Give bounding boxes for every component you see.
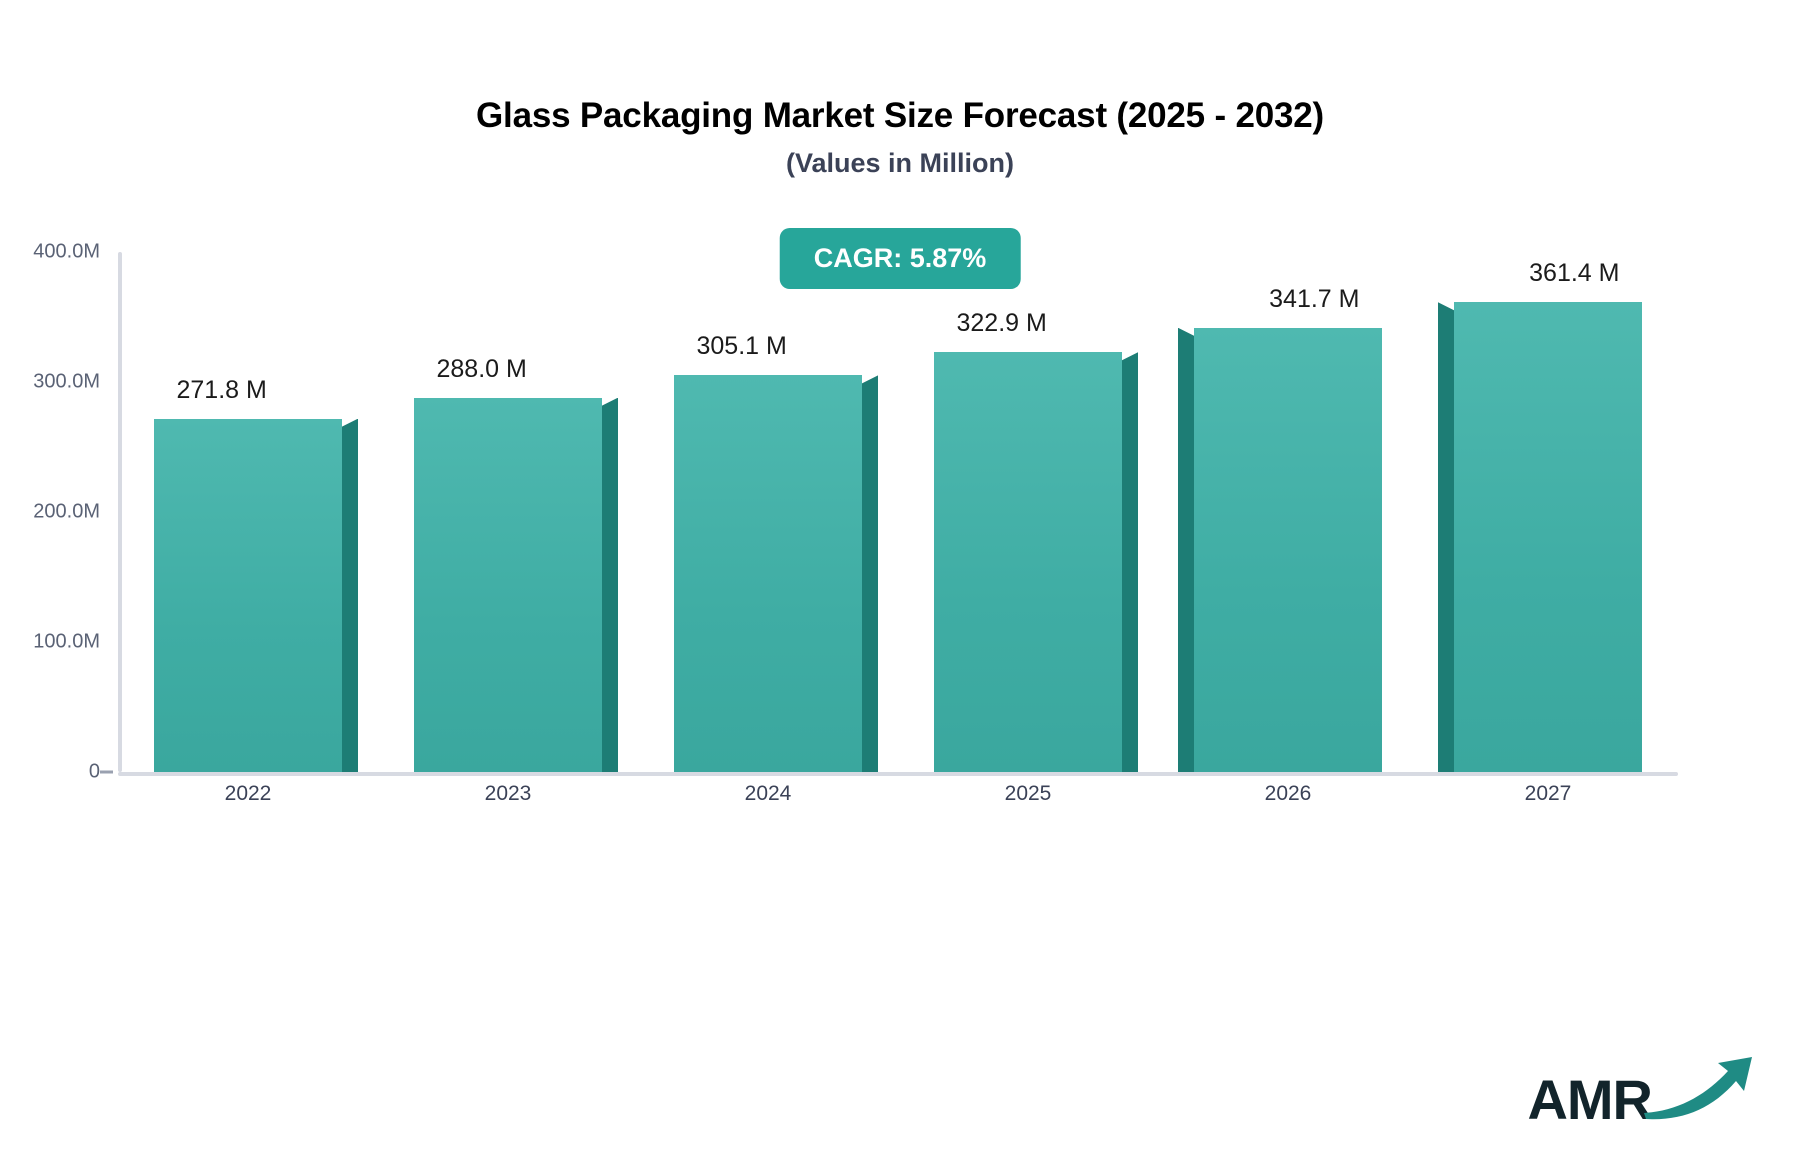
x-axis-label-2025: 2025 bbox=[898, 782, 1158, 806]
bar-value-label: 361.4 M bbox=[1529, 259, 1619, 288]
bar-value-label: 288.0 M bbox=[437, 355, 527, 384]
growth-arrow-icon bbox=[1640, 1051, 1758, 1126]
bar-2027[interactable] bbox=[1454, 302, 1642, 772]
bar-2025[interactable] bbox=[934, 352, 1122, 772]
y-axis-tick-label: 100.0M bbox=[33, 631, 100, 654]
bar-2024[interactable] bbox=[674, 375, 862, 772]
logo-text: AMR bbox=[1527, 1072, 1652, 1128]
bar-series: 271.8 M288.0 M305.1 M322.9 M341.7 M361.4… bbox=[118, 252, 1678, 772]
x-axis-line bbox=[118, 772, 1678, 776]
x-axis-label-2023: 2023 bbox=[378, 782, 638, 806]
bar-slot: 305.1 M bbox=[638, 252, 898, 772]
chart-page: Glass Packaging Market Size Forecast (20… bbox=[0, 0, 1800, 1156]
bar-side-shadow bbox=[602, 398, 618, 772]
y-axis-tick-label: 400.0M bbox=[33, 241, 100, 264]
y-axis-tick-label: 0 bbox=[89, 761, 100, 784]
x-axis-labels: 202220232024202520262027 bbox=[118, 782, 1678, 806]
bar-slot: 361.4 M bbox=[1418, 252, 1678, 772]
x-axis-label-2024: 2024 bbox=[638, 782, 898, 806]
bar-value-label: 341.7 M bbox=[1269, 285, 1359, 314]
bar-2023[interactable] bbox=[414, 398, 602, 772]
bar-2026[interactable] bbox=[1194, 328, 1382, 772]
y-axis-tick-label: 300.0M bbox=[33, 371, 100, 394]
bar-side-shadow bbox=[342, 419, 358, 772]
page-title: Glass Packaging Market Size Forecast (20… bbox=[0, 96, 1800, 136]
plot-area: 0100.0M200.0M300.0M400.0M 271.8 M288.0 M… bbox=[118, 252, 1678, 772]
y-axis-tick-label: 200.0M bbox=[33, 501, 100, 524]
bar-value-label: 322.9 M bbox=[957, 309, 1047, 338]
bar-side-shadow bbox=[1438, 302, 1454, 772]
bar-slot: 341.7 M bbox=[1158, 252, 1418, 772]
bar-side-shadow bbox=[862, 375, 878, 772]
x-axis-label-2026: 2026 bbox=[1158, 782, 1418, 806]
bar-slot: 271.8 M bbox=[118, 252, 378, 772]
bar-slot: 288.0 M bbox=[378, 252, 638, 772]
bar-slot: 322.9 M bbox=[898, 252, 1158, 772]
chart-subtitle: (Values in Million) bbox=[0, 148, 1800, 179]
bar-side-shadow bbox=[1122, 352, 1138, 772]
x-axis-label-2027: 2027 bbox=[1418, 782, 1678, 806]
bar-side-shadow bbox=[1178, 328, 1194, 772]
bar-value-label: 305.1 M bbox=[697, 332, 787, 361]
amr-logo: AMR bbox=[1527, 1051, 1758, 1128]
bar-2022[interactable] bbox=[154, 419, 342, 772]
bar-value-label: 271.8 M bbox=[177, 376, 267, 405]
y-axis-tick-mark bbox=[100, 771, 113, 774]
x-axis-label-2022: 2022 bbox=[118, 782, 378, 806]
